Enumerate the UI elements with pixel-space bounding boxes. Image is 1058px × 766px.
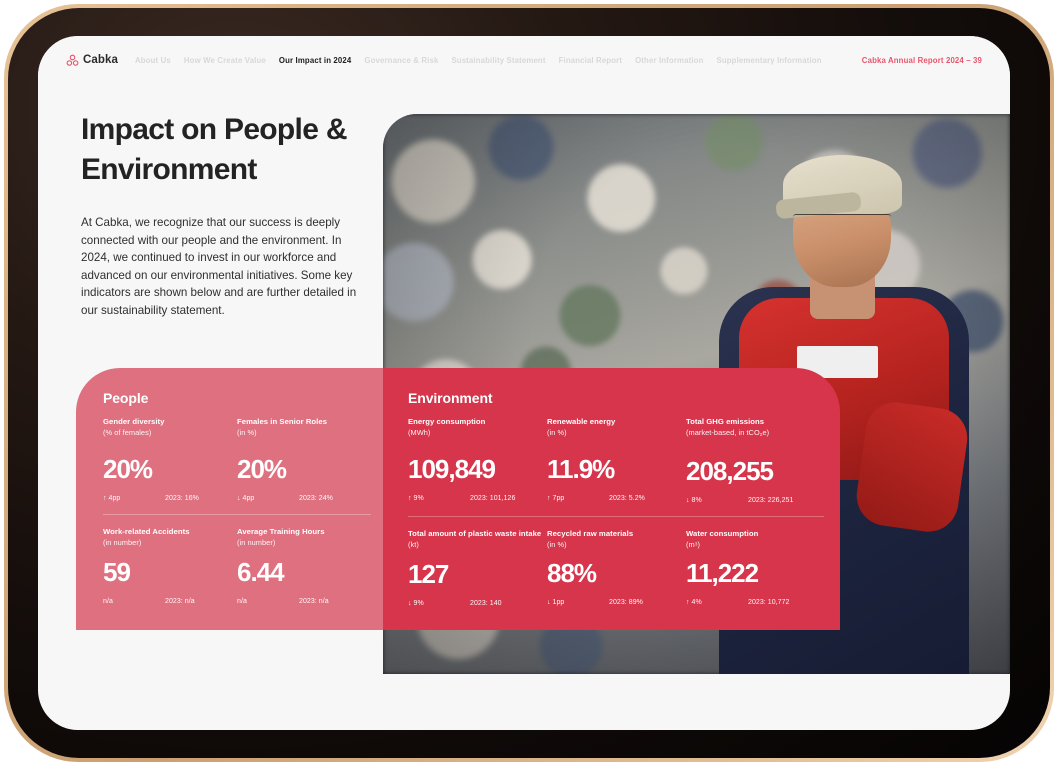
worker-right-arm — [853, 399, 971, 536]
nav-item-financial-report[interactable]: Financial Report — [559, 56, 623, 65]
kpi-label: Work-related Accidents — [103, 527, 237, 538]
kpi-value: 88% — [547, 560, 686, 586]
people-kpi-row-2: Work-related Accidents (in number) 59 n/… — [103, 514, 383, 604]
kpi-value: 109,849 — [408, 456, 547, 482]
kpi-footer: n/a 2023: n/a — [237, 598, 371, 605]
nav-item-other-information[interactable]: Other Information — [635, 56, 703, 65]
kpi-label: Energy consumption — [408, 417, 547, 428]
kpi-label: Water consumption — [686, 529, 825, 540]
page-title: Impact on People & Environment — [81, 110, 381, 190]
kpi-water-consumption: Water consumption (m3) 11,222 ↑ 4% 2023:… — [686, 529, 825, 607]
kpi-value: 6.44 — [237, 559, 371, 585]
nav-item-about-us[interactable]: About Us — [135, 56, 171, 65]
kpi-value: 20% — [103, 456, 237, 482]
kpi-renewable-energy: Renewable energy (in %) 11.9% ↑ 7pp 2023… — [547, 417, 686, 504]
kpi-previous-year: 2023: 140 — [470, 600, 502, 607]
kpi-footer: n/a 2023: n/a — [103, 598, 237, 605]
kpi-average-training-hours: Average Training Hours (in number) 6.44 … — [237, 527, 371, 604]
kpi-recycled-raw-materials: Recycled raw materials (in %) 88% ↓ 1pp … — [547, 529, 686, 607]
kpi-change: ↓ 4pp — [237, 495, 299, 502]
kpi-change: ↑ 7pp — [547, 495, 609, 502]
kpi-footer: ↑ 4% 2023: 10,772 — [686, 599, 825, 606]
cabka-trefoil-logo-icon — [66, 54, 79, 67]
kpi-label: Gender diversity — [103, 417, 237, 428]
kpi-females-in-senior-roles: Females in Senior Roles (in %) 20% ↓ 4pp… — [237, 417, 371, 502]
kpi-footer: ↓ 4pp 2023: 24% — [237, 495, 371, 502]
kpi-previous-year: 2023: 101,126 — [470, 495, 515, 502]
kpi-value: 208,255 — [686, 458, 825, 484]
nav-item-supplementary-information[interactable]: Supplementary Information — [716, 56, 821, 65]
kpi-change: ↓ 1pp — [547, 599, 609, 606]
people-kpi-row-1: Gender diversity (% of females) 20% ↑ 4p… — [103, 417, 383, 502]
nav-item-how-we-create-value[interactable]: How We Create Value — [184, 56, 266, 65]
environment-kpi-row-2: Total amount of plastic waste intake (kt… — [408, 516, 840, 607]
kpi-unit: (in number) — [237, 538, 371, 549]
kpi-unit: (in %) — [547, 428, 686, 439]
kpi-value: 11,222 — [686, 560, 825, 586]
kpi-footer: ↑ 7pp 2023: 5.2% — [547, 495, 686, 502]
page-intro-text: At Cabka, we recognize that our success … — [81, 214, 366, 320]
nav-item-governance-risk[interactable]: Governance & Risk — [364, 56, 438, 65]
kpi-unit: (% of females) — [103, 428, 237, 439]
kpi-previous-year: 2023: 89% — [609, 599, 643, 606]
kpi-change: ↓ 8% — [686, 497, 748, 504]
kpi-work-related-accidents: Work-related Accidents (in number) 59 n/… — [103, 527, 237, 604]
kpi-change: ↑ 9% — [408, 495, 470, 502]
kpi-total-ghg-emissions: Total GHG emissions (market-based, in tC… — [686, 417, 825, 504]
environment-kpi-panel: Environment Energy consumption (MWh) 109… — [383, 368, 840, 630]
kpi-change: ↑ 4% — [686, 599, 748, 606]
kpi-previous-year: 2023: 226,251 — [748, 497, 793, 504]
worker-glasses — [793, 214, 891, 232]
tablet-screen: Cabka About Us How We Create Value Our I… — [38, 36, 1010, 730]
kpi-footer: ↓ 9% 2023: 140 — [408, 600, 547, 607]
kpi-unit: (kt) — [408, 540, 419, 549]
kpi-footer: ↑ 4pp 2023: 16% — [103, 495, 237, 502]
kpi-previous-year: 2023: 24% — [299, 495, 333, 502]
kpi-label: Total amount of plastic waste intake (kt… — [408, 529, 547, 551]
kpi-label-text: Total amount of plastic waste intake — [408, 529, 541, 538]
kpi-label: Recycled raw materials — [547, 529, 686, 540]
nav-item-sustainability-statement[interactable]: Sustainability Statement — [451, 56, 545, 65]
kpi-change: ↓ 9% — [408, 600, 470, 607]
logo-wordmark: Cabka — [83, 54, 118, 66]
kpi-label: Renewable energy — [547, 417, 686, 428]
top-navigation: Cabka About Us How We Create Value Our I… — [38, 36, 1010, 84]
kpi-previous-year: 2023: 10,772 — [748, 599, 789, 606]
people-kpi-panel: People Gender diversity (% of females) 2… — [76, 368, 383, 630]
environment-panel-heading: Environment — [408, 390, 840, 406]
kpi-plastic-waste-intake: Total amount of plastic waste intake (kt… — [408, 529, 547, 607]
kpi-label: Total GHG emissions — [686, 417, 825, 428]
kpi-gender-diversity: Gender diversity (% of females) 20% ↑ 4p… — [103, 417, 237, 502]
kpi-unit: (market-based, in tCO2e) — [686, 428, 825, 440]
kpi-footer: ↓ 8% 2023: 226,251 — [686, 497, 825, 504]
kpi-unit: (m3) — [686, 540, 825, 551]
kpi-label: Females in Senior Roles — [237, 417, 371, 428]
kpi-previous-year: 2023: n/a — [299, 598, 329, 605]
nav-items: About Us How We Create Value Our Impact … — [135, 56, 862, 65]
kpi-previous-year: 2023: 16% — [165, 495, 199, 502]
report-page-label: Cabka Annual Report 2024 – 39 — [862, 56, 982, 65]
kpi-unit: (in %) — [547, 540, 686, 551]
kpi-change: ↑ 4pp — [103, 495, 165, 502]
kpi-value: 11.9% — [547, 456, 686, 482]
kpi-unit: (in number) — [103, 538, 237, 549]
kpi-footer: ↓ 1pp 2023: 89% — [547, 599, 686, 606]
nav-item-our-impact-in-2024[interactable]: Our Impact in 2024 — [279, 56, 351, 65]
kpi-value: 20% — [237, 456, 371, 482]
environment-kpi-row-1: Energy consumption (MWh) 109,849 ↑ 9% 20… — [408, 417, 840, 504]
kpi-value: 127 — [408, 561, 547, 587]
kpi-value: 59 — [103, 559, 237, 585]
kpi-change: n/a — [237, 598, 299, 605]
kpi-label: Average Training Hours — [237, 527, 371, 538]
kpi-energy-consumption: Energy consumption (MWh) 109,849 ↑ 9% 20… — [408, 417, 547, 504]
kpi-unit: (MWh) — [408, 428, 547, 439]
cabka-logo[interactable]: Cabka — [66, 54, 118, 67]
kpi-previous-year: 2023: n/a — [165, 598, 195, 605]
kpi-footer: ↑ 9% 2023: 101,126 — [408, 495, 547, 502]
kpi-unit: (in %) — [237, 428, 371, 439]
kpi-change: n/a — [103, 598, 165, 605]
kpi-previous-year: 2023: 5.2% — [609, 495, 645, 502]
people-panel-heading: People — [103, 390, 383, 406]
